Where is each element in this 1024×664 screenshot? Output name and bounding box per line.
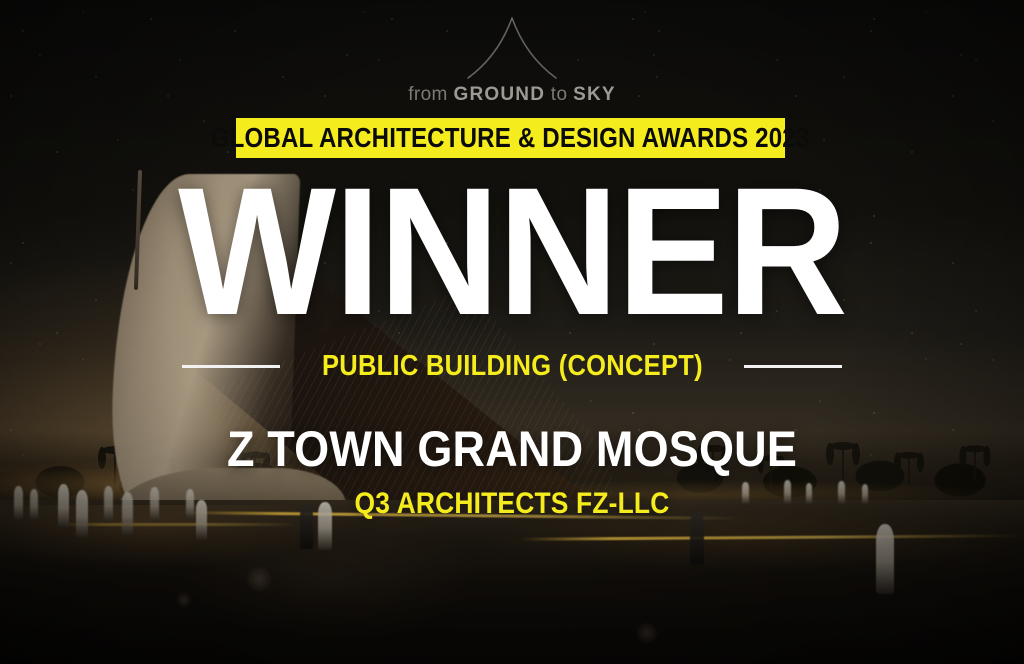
divider-rule-right bbox=[744, 365, 842, 368]
divider-rule-left bbox=[182, 365, 280, 368]
awards-banner-label: GLOBAL ARCHITECTURE & DESIGN AWARDS 2023 bbox=[211, 124, 810, 152]
project-name: Z TOWN GRAND MOSQUE bbox=[51, 424, 973, 474]
award-category: PUBLIC BUILDING (CONCEPT) bbox=[322, 352, 703, 381]
pointed-arch-icon bbox=[452, 14, 572, 88]
award-poster: from GROUND to SKY GLOBAL ARCHITECTURE &… bbox=[0, 0, 1024, 664]
poster-content: from GROUND to SKY GLOBAL ARCHITECTURE &… bbox=[0, 0, 1024, 664]
winner-headline: WINNER bbox=[41, 160, 983, 342]
category-row: PUBLIC BUILDING (CONCEPT) bbox=[0, 352, 1024, 381]
tagline-sky: SKY bbox=[573, 84, 616, 105]
tagline-prefix: from bbox=[408, 84, 453, 105]
organization-logo: from GROUND to SKY bbox=[0, 14, 1024, 106]
firm-name: Q3 ARCHITECTS FZ-LLC bbox=[61, 489, 962, 519]
